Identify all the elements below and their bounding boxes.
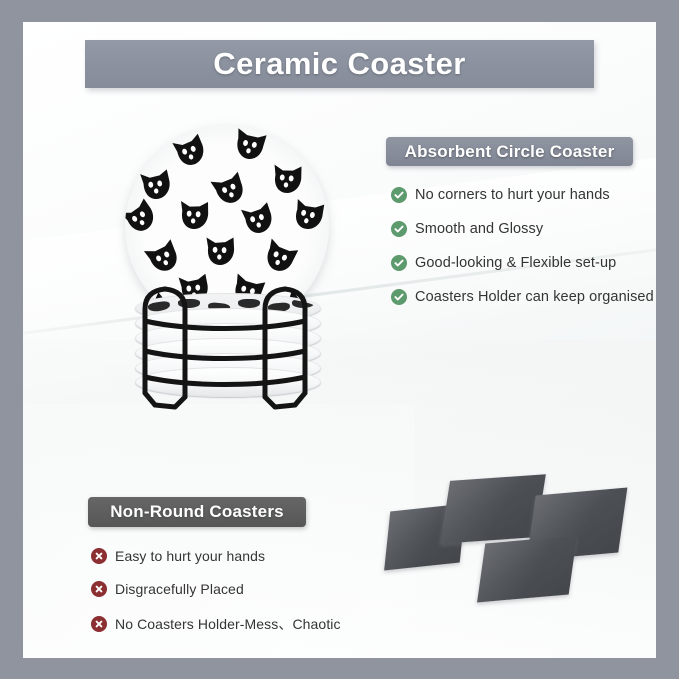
list-item-label: Good-looking & Flexible set-up [415,255,616,271]
cat-face-icon [259,238,302,279]
list-item: Smooth and Glossy [391,221,656,237]
list-item: No Coasters Holder-Mess、Chaotic [91,614,381,634]
pros-feature-list: No corners to hurt your hands Smooth and… [391,187,656,305]
product-infographic-poster: Ceramic Coaster [0,0,679,679]
cat-face-icon [238,201,278,238]
list-item-label: No corners to hurt your hands [415,187,610,203]
list-item-label: Disgracefully Placed [115,581,244,597]
cat-face-icon [202,236,237,267]
cat-face-icon [176,200,212,232]
cat-face-icon [209,170,252,211]
badge-absorbent-circle-coaster: Absorbent Circle Coaster [386,137,633,166]
list-item: Good-looking & Flexible set-up [391,255,656,271]
cat-face-icon [230,128,269,164]
square-slate-coasters-photo [383,462,643,632]
page-title: Ceramic Coaster [213,46,465,82]
badge-nonround-label: Non-Round Coasters [110,502,284,522]
check-circle-icon [391,289,407,305]
cat-face-icon [288,197,328,234]
list-item-label: Coasters Holder can keep organised [415,289,654,305]
list-item: Disgracefully Placed [91,581,381,597]
list-item: Coasters Holder can keep organised [391,289,656,305]
cat-face-icon [142,237,186,279]
cat-face-icon [125,197,162,240]
check-circle-icon [391,187,407,203]
wire-coaster-holder [109,275,341,423]
badge-absorbent-label: Absorbent Circle Coaster [405,142,615,162]
poster-canvas: Ceramic Coaster [23,22,656,658]
title-banner: Ceramic Coaster [85,40,594,88]
list-item-label: Easy to hurt your hands [115,548,265,564]
round-coaster-product-photo [83,97,353,427]
cross-circle-icon [91,616,107,632]
cross-circle-icon [91,581,107,597]
cons-feature-list: Easy to hurt your hands Disgracefully Pl… [91,548,381,634]
slate-coaster [477,536,577,603]
list-item: Easy to hurt your hands [91,548,381,564]
list-item: No corners to hurt your hands [391,187,656,203]
list-item-label: No Coasters Holder-Mess、Chaotic [115,614,341,634]
cat-face-icon [169,132,211,171]
badge-non-round-coasters: Non-Round Coasters [88,497,306,527]
check-circle-icon [391,221,407,237]
cat-face-icon [269,163,306,196]
cross-circle-icon [91,548,107,564]
list-item-label: Smooth and Glossy [415,221,543,237]
check-circle-icon [391,255,407,271]
